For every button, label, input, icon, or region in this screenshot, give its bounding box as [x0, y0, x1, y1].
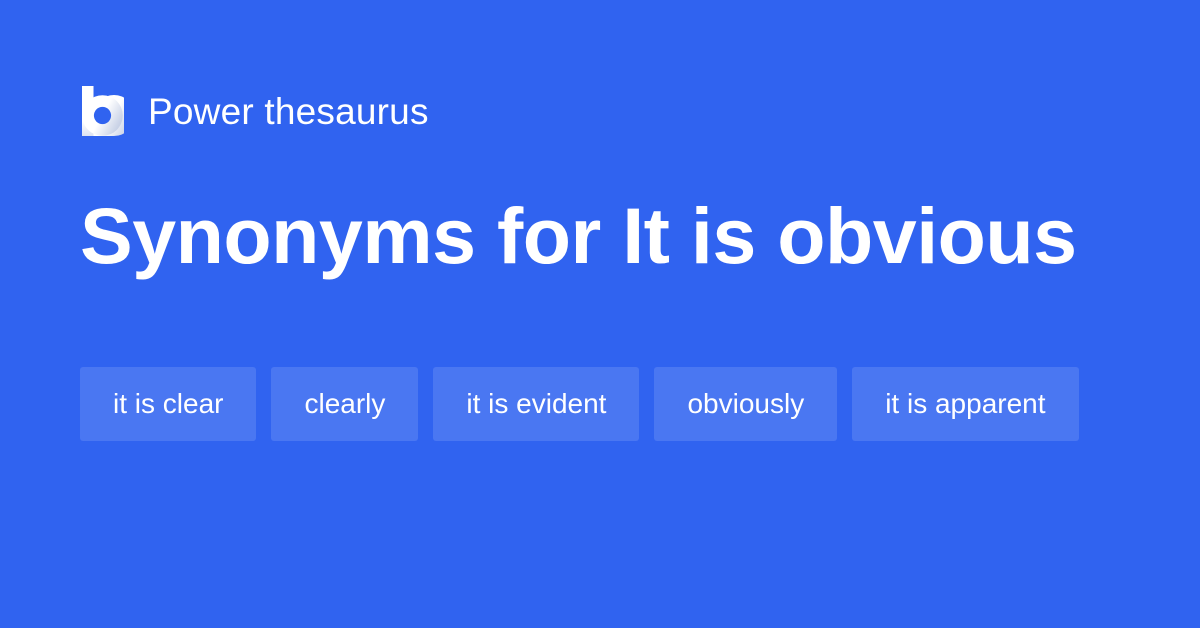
brand-name: Power thesaurus: [148, 93, 429, 130]
synonym-chip[interactable]: clearly: [271, 367, 418, 441]
page-title: Synonyms for It is obvious: [80, 196, 1077, 275]
brand-header[interactable]: Power thesaurus: [80, 82, 429, 140]
synonym-chip[interactable]: obviously: [654, 367, 837, 441]
share-card: Power thesaurus Synonyms for It is obvio…: [0, 0, 1200, 628]
power-thesaurus-b-logo-icon: [80, 85, 124, 137]
synonym-chip[interactable]: it is apparent: [852, 367, 1078, 441]
synonym-chip[interactable]: it is evident: [433, 367, 639, 441]
synonym-chip[interactable]: it is clear: [80, 367, 256, 441]
synonym-chip-list: it is clear clearly it is evident obviou…: [80, 367, 1130, 441]
